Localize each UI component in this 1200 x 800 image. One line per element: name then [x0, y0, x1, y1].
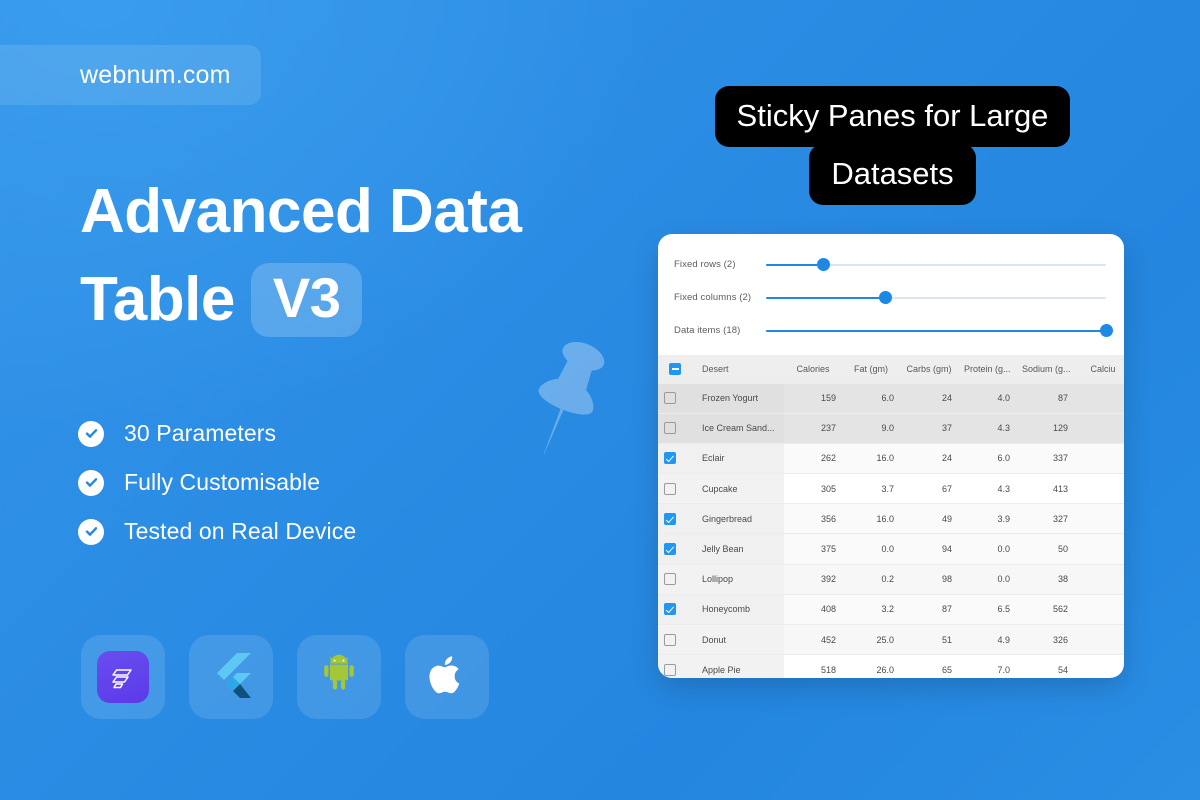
- feature-label: Tested on Real Device: [124, 518, 356, 545]
- row-select-cell[interactable]: [658, 474, 692, 504]
- table-cell: 3.2: [842, 594, 900, 624]
- title-line-2: Table: [80, 256, 235, 344]
- table-cell: Ice Cream Sand...: [692, 413, 784, 443]
- table-cell: Eclair: [692, 443, 784, 473]
- brand-badge: webnum.com: [0, 45, 261, 105]
- flutterflow-icon: [97, 651, 149, 703]
- table-cell: 408: [784, 594, 842, 624]
- table-cell-calcium: [1074, 383, 1124, 413]
- table-cell: 25.0: [842, 625, 900, 655]
- slider-thumb[interactable]: [1100, 324, 1113, 337]
- row-select-cell[interactable]: [658, 564, 692, 594]
- table-cell: 326: [1016, 625, 1074, 655]
- table-cell: 37: [900, 413, 958, 443]
- table-cell: 4.0: [958, 383, 1016, 413]
- list-item: Fully Customisable: [78, 469, 356, 496]
- table-cell: Honeycomb: [692, 594, 784, 624]
- table-cell: Frozen Yogurt: [692, 383, 784, 413]
- table-cell: 6.0: [842, 383, 900, 413]
- table-row[interactable]: Cupcake3053.7674.3413: [658, 474, 1124, 504]
- flutter-icon: [210, 651, 252, 704]
- row-checkbox[interactable]: [664, 603, 676, 615]
- desserts-table: Desert Calories Fat (gm) Carbs (gm) Prot…: [658, 355, 1124, 678]
- table-header: Desert Calories Fat (gm) Carbs (gm) Prot…: [658, 355, 1124, 383]
- slider-fixed-columns[interactable]: Fixed columns (2): [668, 281, 1114, 314]
- row-checkbox[interactable]: [664, 573, 676, 585]
- row-select-cell[interactable]: [658, 594, 692, 624]
- feature-label: 30 Parameters: [124, 420, 276, 447]
- table-row[interactable]: Gingerbread35616.0493.9327: [658, 504, 1124, 534]
- table-cell: 356: [784, 504, 842, 534]
- row-checkbox[interactable]: [664, 543, 676, 555]
- platform-tile-flutter: [189, 635, 273, 719]
- table-cell: 49: [900, 504, 958, 534]
- platform-tile-flutterflow: [81, 635, 165, 719]
- table-cell: 9.0: [842, 413, 900, 443]
- table-cell: 6.5: [958, 594, 1016, 624]
- slider-thumb[interactable]: [817, 258, 830, 271]
- table-cell: 54: [1016, 655, 1074, 678]
- slider-track[interactable]: [766, 264, 1106, 266]
- table-cell: 3.7: [842, 474, 900, 504]
- table-cell: Donut: [692, 625, 784, 655]
- slider-panel: Fixed rows (2) Fixed columns (2) Data it…: [658, 234, 1124, 355]
- table-cell: 392: [784, 564, 842, 594]
- row-checkbox[interactable]: [664, 422, 676, 434]
- table-cell: 237: [784, 413, 842, 443]
- row-select-cell[interactable]: [658, 504, 692, 534]
- callout-line-1: Sticky Panes for Large: [715, 86, 1071, 147]
- table-cell: 0.0: [958, 534, 1016, 564]
- table-cell: 413: [1016, 474, 1074, 504]
- column-header-protein[interactable]: Protein (g...: [958, 355, 1016, 383]
- row-select-cell[interactable]: [658, 655, 692, 678]
- table-cell: 129: [1016, 413, 1074, 443]
- table-cell: 65: [900, 655, 958, 678]
- table-cell: 452: [784, 625, 842, 655]
- column-header-calcium[interactable]: Calciu: [1074, 355, 1124, 383]
- table-cell: 3.9: [958, 504, 1016, 534]
- android-icon: [317, 653, 361, 702]
- version-badge: V3: [251, 263, 363, 337]
- table-cell: 38: [1016, 564, 1074, 594]
- page-title: Advanced Data Table V3: [80, 168, 640, 344]
- table-cell: 4.3: [958, 413, 1016, 443]
- table-cell-calcium: [1074, 504, 1124, 534]
- column-header-desert[interactable]: Desert: [692, 355, 784, 383]
- select-all-checkbox[interactable]: [669, 363, 681, 375]
- table-cell: 327: [1016, 504, 1074, 534]
- table-row[interactable]: Eclair26216.0246.0337: [658, 443, 1124, 473]
- table-cell-calcium: [1074, 625, 1124, 655]
- table-cell: 4.3: [958, 474, 1016, 504]
- table-cell-calcium: [1074, 443, 1124, 473]
- column-header-calories[interactable]: Calories: [784, 355, 842, 383]
- slider-fixed-rows[interactable]: Fixed rows (2): [668, 248, 1114, 281]
- select-all-cell[interactable]: [658, 355, 692, 383]
- table-cell: 67: [900, 474, 958, 504]
- table-cell: 0.0: [958, 564, 1016, 594]
- table-cell: 50: [1016, 534, 1074, 564]
- title-line-1: Advanced Data: [80, 168, 640, 256]
- table-cell: 98: [900, 564, 958, 594]
- table-cell: 0.2: [842, 564, 900, 594]
- slider-track[interactable]: [766, 297, 1106, 299]
- table-cell: 87: [900, 594, 958, 624]
- table-cell: 4.9: [958, 625, 1016, 655]
- table-cell: 375: [784, 534, 842, 564]
- table-row[interactable]: Lollipop3920.2980.038: [658, 564, 1124, 594]
- table-cell: 87: [1016, 383, 1074, 413]
- slider-data-items[interactable]: Data items (18): [668, 314, 1114, 347]
- platform-tile-android: [297, 635, 381, 719]
- apple-icon: [427, 651, 467, 704]
- table-cell: 159: [784, 383, 842, 413]
- slider-thumb[interactable]: [879, 291, 892, 304]
- table-body: Frozen Yogurt1596.0244.087Ice Cream Sand…: [658, 383, 1124, 678]
- table-cell: Apple Pie: [692, 655, 784, 678]
- pushpin-icon: [515, 332, 615, 487]
- table-cell: 262: [784, 443, 842, 473]
- row-checkbox[interactable]: [664, 513, 676, 525]
- check-circle-icon: [78, 519, 104, 545]
- table-cell: 305: [784, 474, 842, 504]
- feature-list: 30 Parameters Fully Customisable Tested …: [78, 420, 356, 545]
- check-circle-icon: [78, 470, 104, 496]
- check-circle-icon: [78, 421, 104, 447]
- table-row[interactable]: Frozen Yogurt1596.0244.087: [658, 383, 1124, 413]
- table-row[interactable]: Apple Pie51826.0657.054: [658, 655, 1124, 678]
- table-cell: 51: [900, 625, 958, 655]
- column-header-fat[interactable]: Fat (gm): [842, 355, 900, 383]
- platform-tile-apple: [405, 635, 489, 719]
- table-cell: 24: [900, 383, 958, 413]
- callout-line-2: Datasets: [809, 144, 975, 205]
- table-cell: 518: [784, 655, 842, 678]
- table-row[interactable]: Donut45225.0514.9326: [658, 625, 1124, 655]
- table-cell-calcium: [1074, 474, 1124, 504]
- table-cell: Lollipop: [692, 564, 784, 594]
- table-cell: 337: [1016, 443, 1074, 473]
- table-row[interactable]: Ice Cream Sand...2379.0374.3129: [658, 413, 1124, 443]
- table-cell: Jelly Bean: [692, 534, 784, 564]
- row-checkbox[interactable]: [664, 664, 676, 676]
- table-cell: Gingerbread: [692, 504, 784, 534]
- row-select-cell[interactable]: [658, 625, 692, 655]
- poster-background: webnum.com Advanced Data Table V3 30 Par…: [0, 0, 1200, 800]
- slider-label: Fixed columns (2): [674, 292, 766, 303]
- table-cell: 7.0: [958, 655, 1016, 678]
- column-header-sodium[interactable]: Sodium (g...: [1016, 355, 1074, 383]
- row-select-cell[interactable]: [658, 413, 692, 443]
- table-cell: 0.0: [842, 534, 900, 564]
- table-cell: 24: [900, 443, 958, 473]
- table-cell: 562: [1016, 594, 1074, 624]
- callout-banner: Sticky Panes for Large Datasets: [640, 86, 1145, 205]
- table-cell-calcium: [1074, 564, 1124, 594]
- slider-fill: [766, 330, 1106, 332]
- table-cell-calcium: [1074, 655, 1124, 678]
- row-select-cell[interactable]: [658, 443, 692, 473]
- brand-name: webnum.com: [80, 61, 231, 90]
- table-row[interactable]: Honeycomb4083.2876.5562: [658, 594, 1124, 624]
- table-cell: Cupcake: [692, 474, 784, 504]
- row-checkbox[interactable]: [664, 634, 676, 646]
- slider-track[interactable]: [766, 330, 1106, 332]
- table-cell-calcium: [1074, 594, 1124, 624]
- table-cell: 26.0: [842, 655, 900, 678]
- table-cell-calcium: [1074, 534, 1124, 564]
- slider-fill: [766, 264, 824, 266]
- platform-icon-list: [81, 635, 489, 719]
- row-select-cell[interactable]: [658, 383, 692, 413]
- table-cell: 6.0: [958, 443, 1016, 473]
- table-cell: 16.0: [842, 504, 900, 534]
- table-header-row: Desert Calories Fat (gm) Carbs (gm) Prot…: [658, 355, 1124, 383]
- table-cell: 94: [900, 534, 958, 564]
- data-table-card: Fixed rows (2) Fixed columns (2) Data it…: [658, 234, 1124, 678]
- title-line-2-row: Table V3: [80, 256, 640, 344]
- row-checkbox[interactable]: [664, 483, 676, 495]
- table-cell-calcium: [1074, 413, 1124, 443]
- list-item: Tested on Real Device: [78, 518, 356, 545]
- slider-label: Fixed rows (2): [674, 259, 766, 270]
- table-cell: 16.0: [842, 443, 900, 473]
- row-checkbox[interactable]: [664, 392, 676, 404]
- list-item: 30 Parameters: [78, 420, 356, 447]
- column-header-carbs[interactable]: Carbs (gm): [900, 355, 958, 383]
- table-row[interactable]: Jelly Bean3750.0940.050: [658, 534, 1124, 564]
- row-checkbox[interactable]: [664, 452, 676, 464]
- row-select-cell[interactable]: [658, 534, 692, 564]
- feature-label: Fully Customisable: [124, 469, 320, 496]
- slider-fill: [766, 297, 885, 299]
- slider-label: Data items (18): [674, 325, 766, 336]
